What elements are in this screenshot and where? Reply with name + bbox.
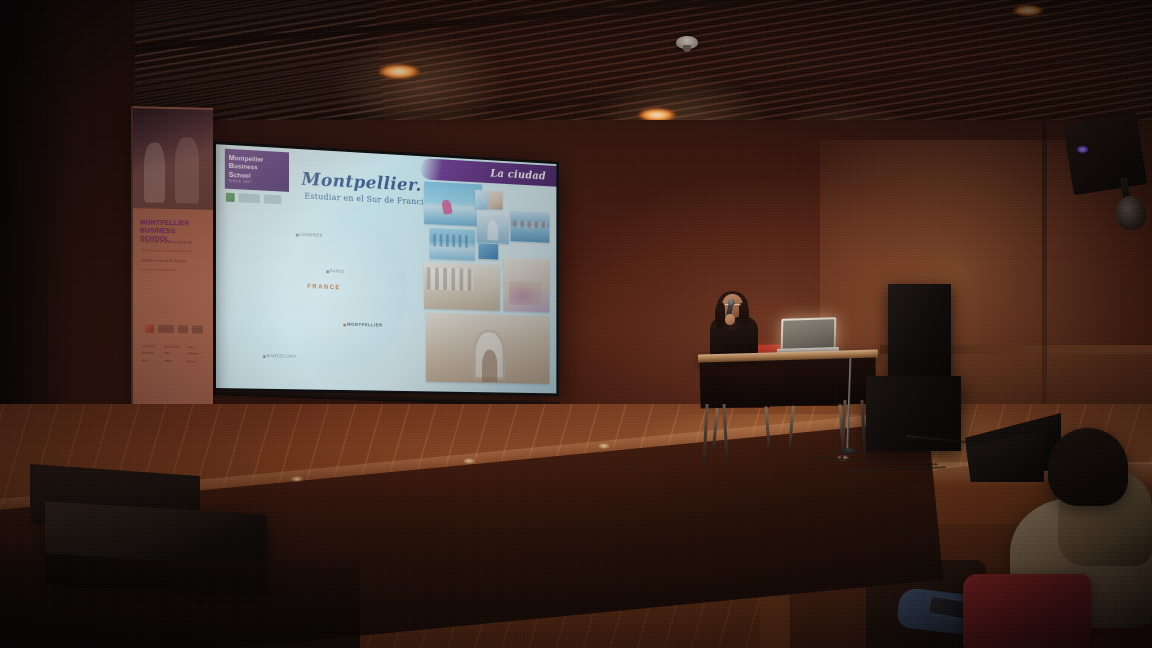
street-market-photo-fill — [504, 258, 550, 313]
harbour-boats-photo — [511, 211, 550, 243]
market-stall-photo — [488, 191, 502, 210]
map-city-label: BARCELONA — [267, 353, 297, 359]
accreditation-logo-icon — [239, 193, 260, 203]
rollup-column-item: Becas — [187, 360, 206, 364]
rollup-column: INFOAdmisionBecas — [187, 345, 206, 368]
rollup-column-item: MBA — [165, 359, 184, 363]
archway-photo-fill — [477, 210, 509, 244]
rollup-column-title: GRADO — [142, 344, 161, 348]
rollup-column-item: Bachelor — [142, 351, 161, 355]
map-city-dot — [326, 270, 328, 273]
accreditation-logos — [226, 191, 305, 207]
foreground-shadow — [0, 560, 360, 648]
beach-kitesurf-photo — [424, 181, 482, 226]
map-city-label: MONTPELLIER — [347, 322, 382, 328]
city-skyline-photo-fill — [430, 228, 475, 261]
rollup-column-title: INFO — [187, 345, 206, 349]
mic-stand-base — [840, 448, 858, 454]
laptop-screen — [783, 319, 835, 348]
beach-kitesurf-photo-fill — [424, 181, 482, 226]
rollup-paragraph: Estudia en el sur de Francia — [141, 258, 205, 264]
ceiling-spotlight — [378, 64, 420, 79]
map-city-labels: LONDRESPARISMONTPELLIERBARCELONA — [234, 207, 435, 217]
presenter-hand — [725, 314, 735, 325]
map-city-label: LONDRES — [300, 232, 323, 238]
photo-collage — [422, 177, 553, 393]
projection-screen: Montpellier Business School SINCE 1897 M… — [213, 141, 559, 396]
partner-logo-icon — [178, 325, 188, 333]
map-city-dot — [296, 234, 298, 237]
partner-logo-icon — [158, 325, 174, 333]
plaza-comedie-photo — [424, 262, 500, 311]
theater-seat — [963, 574, 1091, 648]
av-equipment-rig — [1063, 113, 1147, 196]
rollup-banner-photo — [133, 108, 213, 210]
stage-floor-light — [463, 458, 475, 464]
accreditation-logo-icon — [226, 192, 235, 201]
rollup-column: MASTERMScMBA — [165, 345, 184, 368]
harbour-boats-photo-fill — [511, 211, 550, 243]
rollup-paragraph: Programas de grado y posgrado — [141, 239, 205, 245]
map-city-label: PARIS — [330, 268, 344, 273]
fountain-square-photo-fill — [475, 190, 488, 210]
rollup-partner-logos — [145, 322, 203, 335]
map-city-dot — [263, 355, 265, 358]
archway-photo — [477, 210, 509, 244]
status-led-icon — [1077, 146, 1088, 153]
plaza-comedie-photo-fill — [424, 262, 500, 311]
rollup-paragraph: acreditados internacionalmente. — [141, 249, 205, 255]
partner-logo-icon — [192, 325, 203, 333]
triumphal-arch-photo — [426, 312, 549, 383]
accreditation-logo-icon — [264, 194, 281, 204]
rollup-banner-text: Programas de grado y posgradoacreditados… — [141, 239, 205, 278]
map-landmass — [245, 215, 406, 372]
street-market-photo — [504, 258, 550, 313]
fountain-square-photo — [475, 190, 488, 210]
map-country-label: FRANCE — [307, 283, 341, 291]
stage-floor-light — [598, 443, 610, 449]
stage-floor-light — [291, 476, 303, 482]
rollup-columns: GRADOBachelorBScMASTERMScMBAINFOAdmision… — [142, 344, 206, 368]
rollup-column: GRADOBachelorBSc — [142, 344, 161, 367]
france-map: FRANCE LONDRESPARISMONTPELLIERBARCELONA — [234, 207, 435, 386]
ceiling-spotlight — [1013, 5, 1043, 16]
smoke-detector-icon — [676, 36, 698, 49]
audience-member-head — [1048, 428, 1128, 506]
rollup-paragraph: Campus internacional — [141, 268, 205, 274]
triumphal-arch-photo-fill — [426, 312, 549, 383]
blue-detail-photo-fill — [479, 243, 499, 259]
blue-detail-photo — [479, 243, 499, 259]
partner-logo-icon — [145, 324, 154, 332]
rollup-column-title: MASTER — [165, 345, 184, 349]
rollup-column-item: MSc — [165, 352, 184, 356]
market-stall-photo-fill — [488, 191, 502, 210]
city-skyline-photo — [430, 228, 475, 261]
auditorium-scene: Montpellier Business School SINCE 1897 M… — [0, 0, 1152, 648]
pa-speaker-stack — [888, 284, 951, 376]
presentation-slide: Montpellier Business School SINCE 1897 M… — [216, 144, 556, 393]
rollup-column-item: Admision — [187, 352, 206, 356]
slide-section-label: La ciudad — [490, 166, 546, 181]
rollup-column-item: BSc — [142, 359, 161, 363]
mbs-logo: Montpellier Business School SINCE 1897 — [225, 149, 289, 192]
